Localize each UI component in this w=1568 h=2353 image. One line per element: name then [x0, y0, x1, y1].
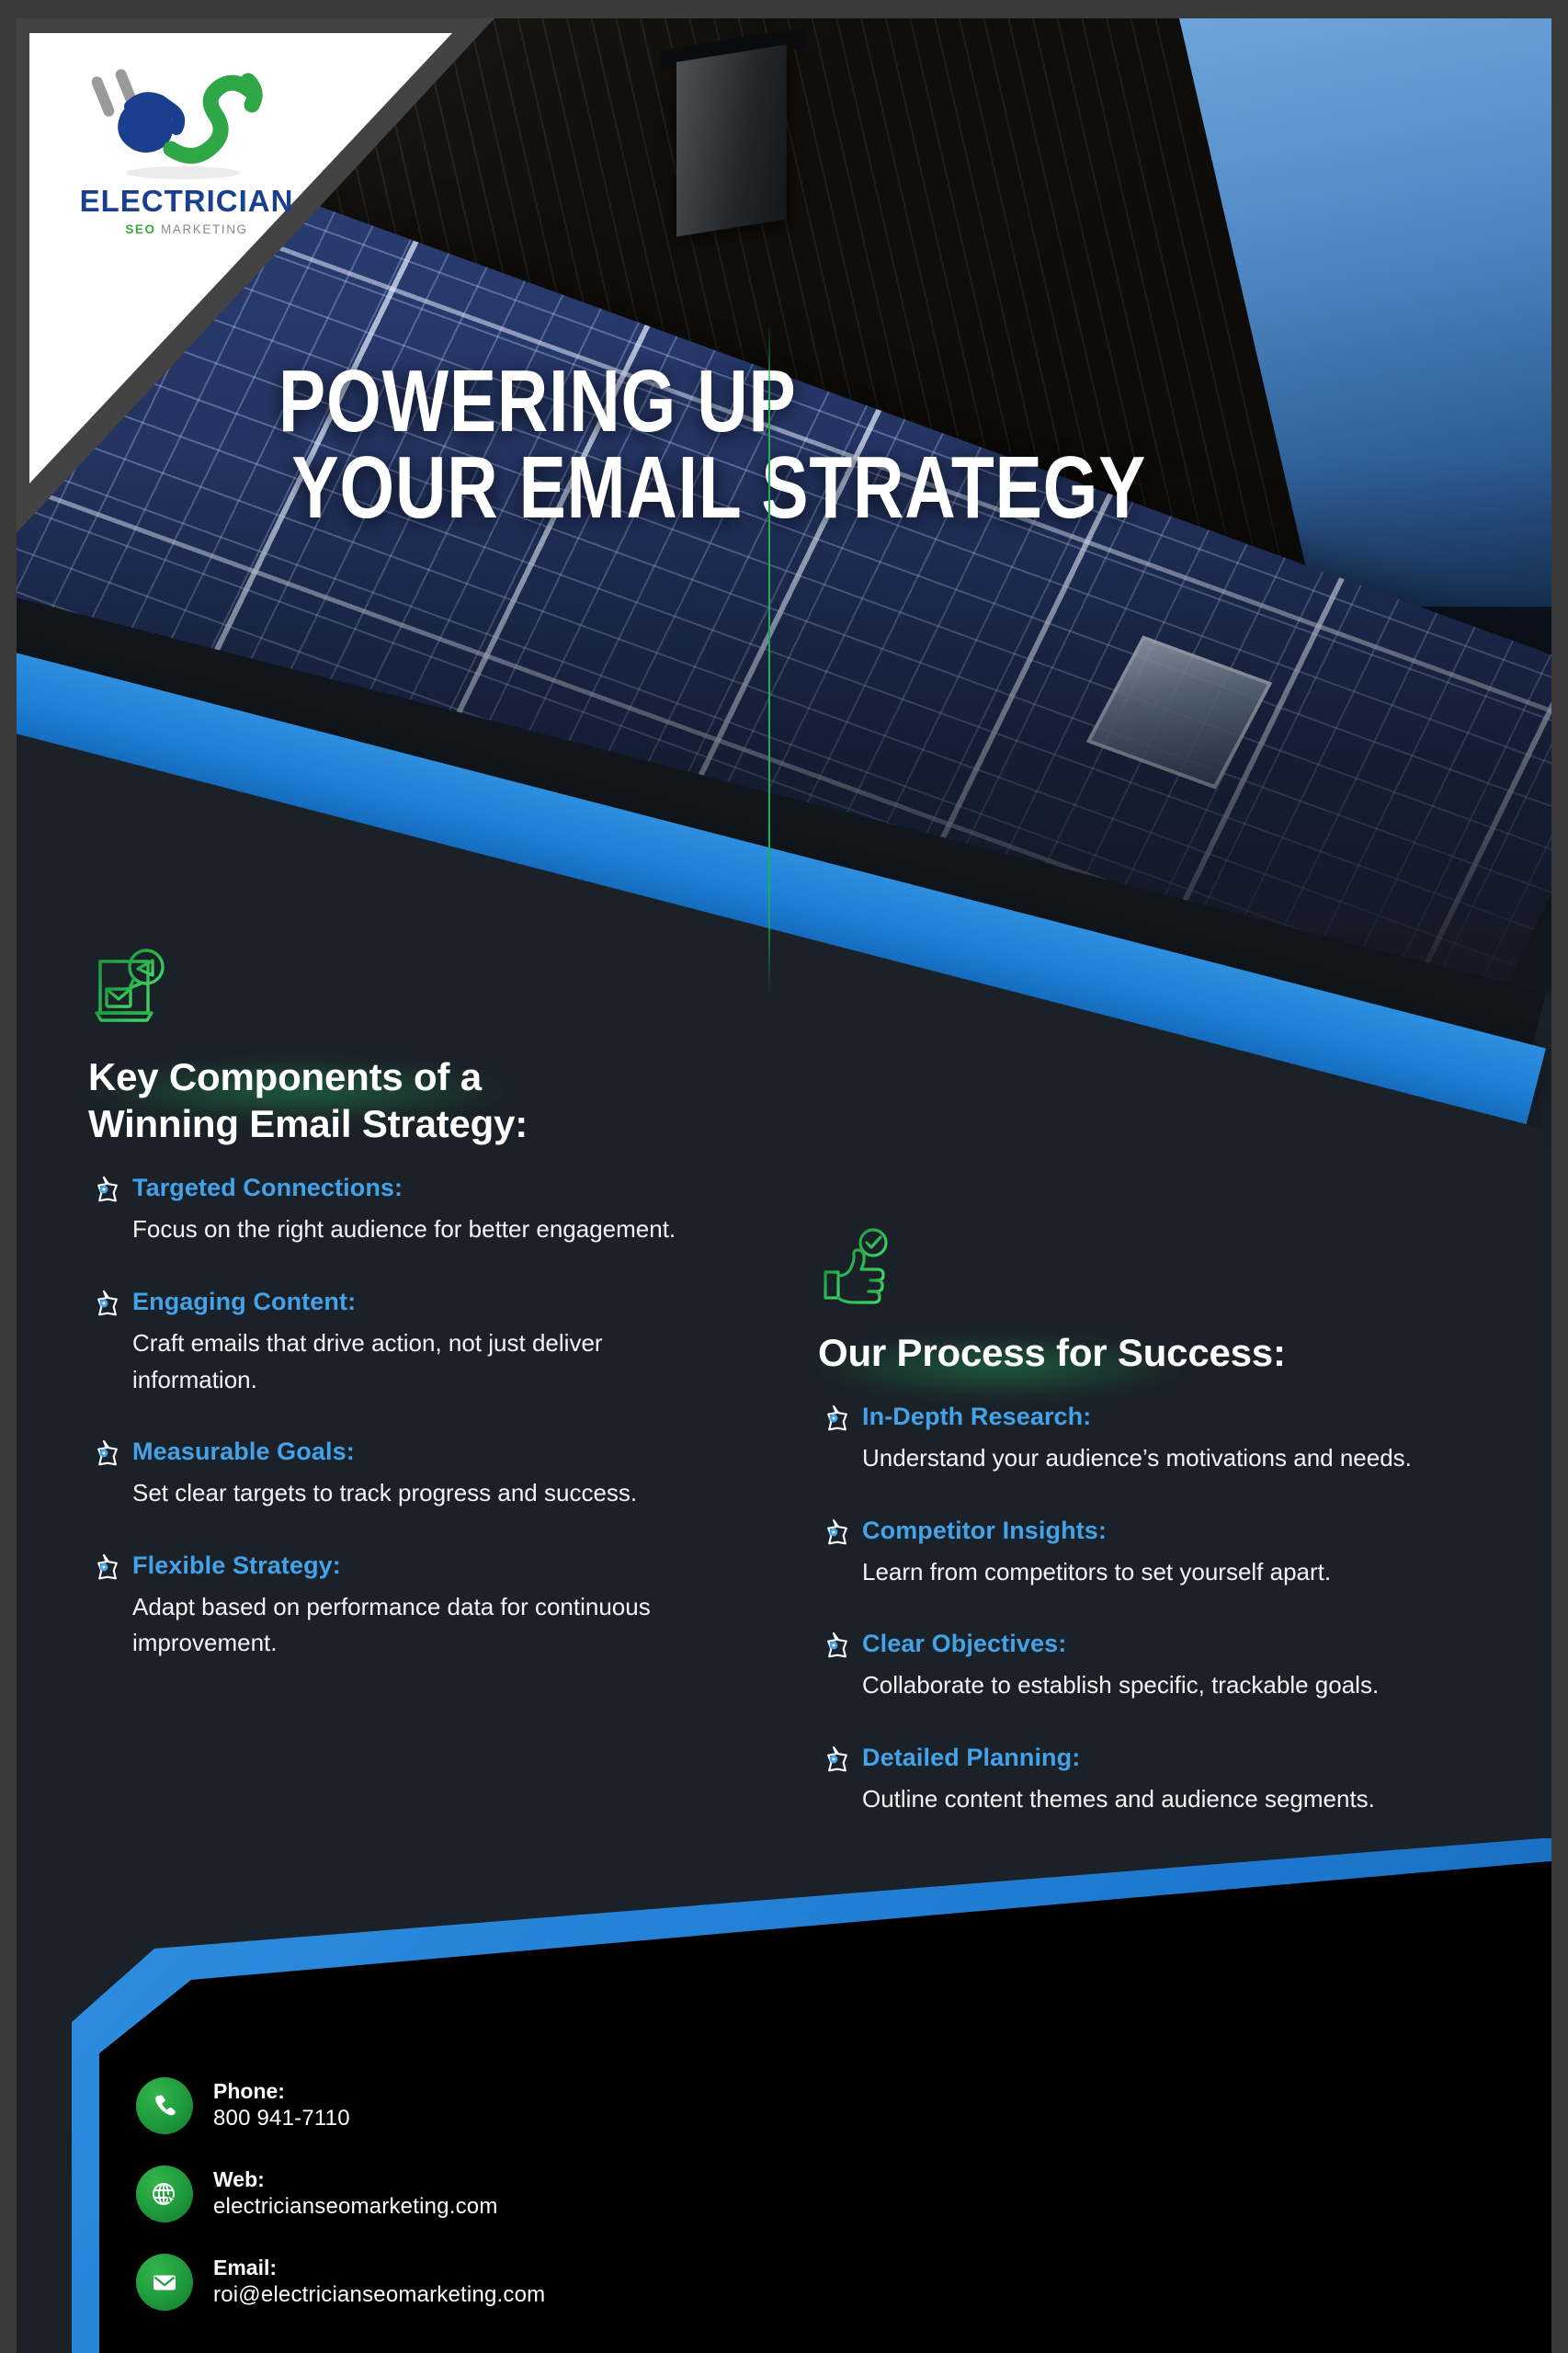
- right-heading-line-1: Our Process for Success:: [818, 1329, 1425, 1376]
- logo-tagline: SEO MARKETING: [62, 222, 311, 236]
- contact-value[interactable]: roi@electricianseomarketing.com: [213, 2282, 545, 2307]
- contact-label: Web:: [213, 2167, 265, 2191]
- right-section-heading: Our Process for Success:: [818, 1329, 1425, 1376]
- star-bullet-icon: [88, 1438, 119, 1470]
- list-item-title: Clear Objectives:: [862, 1629, 1066, 1660]
- list-item-title: Flexible Strategy:: [132, 1551, 341, 1582]
- left-heading-line-2: Winning Email Strategy:: [88, 1100, 676, 1147]
- email-megaphone-icon: [88, 947, 173, 1031]
- star-bullet-icon: [818, 1518, 849, 1549]
- logo-wordmark: ELECTRICIAN SEO MARKETING: [62, 184, 311, 236]
- list-item-title: Detailed Planning:: [862, 1743, 1080, 1774]
- list-item-body: Craft emails that drive action, not just…: [132, 1325, 676, 1398]
- hero-title: POWERING UP YOUR EMAIL STRATEGY: [278, 358, 1146, 531]
- globe-icon: [136, 2165, 193, 2222]
- list-item-body: Learn from competitors to set yourself a…: [862, 1554, 1425, 1591]
- list-item-body: Collaborate to establish specific, track…: [862, 1667, 1425, 1704]
- list-item-body: Understand your audience’s motivations a…: [862, 1440, 1425, 1477]
- star-bullet-icon: [88, 1552, 119, 1584]
- star-bullet-icon: [818, 1631, 849, 1662]
- list-item-title: Measurable Goals:: [132, 1437, 355, 1468]
- contact-email[interactable]: Email: roi@electricianseomarketing.com: [136, 2254, 545, 2311]
- phone-icon: [136, 2077, 193, 2134]
- contact-label: Phone:: [213, 2079, 285, 2103]
- footer: Phone: 800 941-7110: [17, 1838, 1551, 2353]
- list-item-title: Engaging Content:: [132, 1287, 356, 1318]
- list-item: Engaging Content: Craft emails that driv…: [88, 1287, 676, 1398]
- list-item: Detailed Planning: Outline content theme…: [818, 1743, 1425, 1818]
- contact-value[interactable]: 800 941-7110: [213, 2106, 350, 2131]
- list-item-body: Focus on the right audience for better e…: [132, 1211, 676, 1248]
- list-item-body: Set clear targets to track progress and …: [132, 1475, 676, 1512]
- contact-phone[interactable]: Phone: 800 941-7110: [136, 2077, 545, 2134]
- star-bullet-icon: [88, 1289, 119, 1320]
- list-item-title: In-Depth Research:: [862, 1402, 1091, 1433]
- left-section-heading: Key Components of a Winning Email Strate…: [88, 1053, 676, 1147]
- left-column: Key Components of a Winning Email Strate…: [88, 947, 676, 1662]
- hero-title-line-2: YOUR EMAIL STRATEGY: [278, 445, 1146, 531]
- contact-list: Phone: 800 941-7110: [136, 2077, 545, 2311]
- logo-tagline-seo: SEO: [125, 222, 155, 236]
- plug-cord-icon: [77, 64, 289, 193]
- list-item-title: Targeted Connections:: [132, 1173, 403, 1204]
- star-bullet-icon: [818, 1745, 849, 1776]
- star-bullet-icon: [818, 1404, 849, 1435]
- list-item-body: Adapt based on performance data for cont…: [132, 1589, 676, 1662]
- star-bullet-icon: [88, 1175, 119, 1206]
- list-item-body: Outline content themes and audience segm…: [862, 1781, 1425, 1818]
- hero-title-line-1: POWERING UP: [278, 358, 1146, 445]
- list-item: Measurable Goals: Set clear targets to t…: [88, 1437, 676, 1512]
- contact-label: Email:: [213, 2256, 277, 2279]
- poster-inner-canvas: ELECTRICIAN SEO MARKETING POWERING UP YO…: [17, 18, 1551, 2353]
- list-item: In-Depth Research: Understand your audie…: [818, 1402, 1425, 1477]
- list-item: Clear Objectives: Collaborate to establi…: [818, 1629, 1425, 1704]
- list-item: Competitor Insights: Learn from competit…: [818, 1516, 1425, 1591]
- right-column: Our Process for Success: In-Depth Resear…: [818, 1222, 1425, 1817]
- logo-tagline-marketing: MARKETING: [161, 222, 248, 236]
- list-item-title: Competitor Insights:: [862, 1516, 1107, 1547]
- infographic-poster: ELECTRICIAN SEO MARKETING POWERING UP YO…: [0, 0, 1568, 2353]
- envelope-icon: [136, 2254, 193, 2311]
- left-heading-line-1: Key Components of a: [88, 1053, 676, 1100]
- list-item: Targeted Connections: Focus on the right…: [88, 1173, 676, 1248]
- contact-value[interactable]: electricianseomarketing.com: [213, 2194, 498, 2219]
- thumbs-up-check-icon: [818, 1222, 903, 1307]
- logo-company-name: ELECTRICIAN: [62, 184, 311, 219]
- list-item: Flexible Strategy: Adapt based on perfor…: [88, 1551, 676, 1662]
- contact-web[interactable]: Web: electricianseomarketing.com: [136, 2165, 545, 2222]
- column-divider: [768, 324, 770, 995]
